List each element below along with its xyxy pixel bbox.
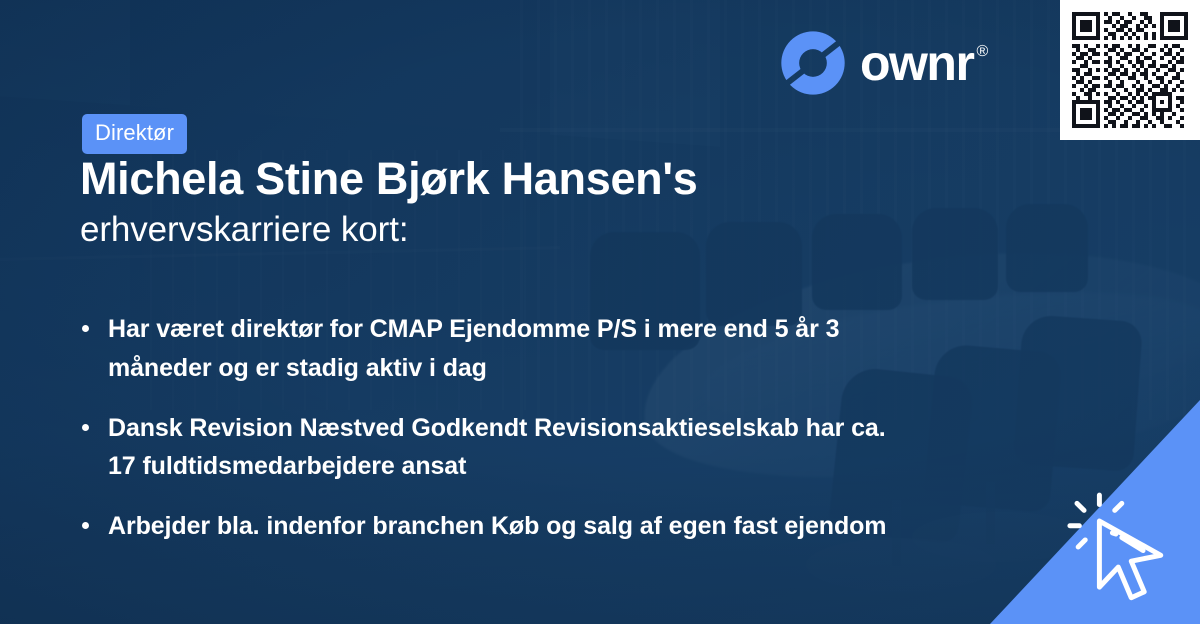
qr-code-icon: [1072, 12, 1188, 128]
ownr-ring-icon: [780, 30, 846, 96]
list-item-text: Arbejder bla. indenfor branchen Køb og s…: [108, 512, 886, 540]
bullet-dot-icon: [82, 325, 89, 332]
list-item: Dansk Revision Næstved Godkendt Revision…: [78, 409, 908, 487]
ownr-wordmark: ownr ®: [860, 38, 988, 88]
title-line-1: Michela Stine Bjørk Hansen's: [80, 152, 960, 205]
corner-decoration: [990, 400, 1200, 624]
list-item: Arbejder bla. indenfor branchen Køb og s…: [78, 507, 908, 546]
page-title: Michela Stine Bjørk Hansen's erhvervskar…: [80, 152, 960, 252]
title-line-2: erhvervskarriere kort:: [80, 208, 960, 252]
card-content: Direktør Michela Stine Bjørk Hansen's er…: [0, 0, 1200, 624]
ownr-logo: ownr ®: [780, 30, 988, 96]
bullet-dot-icon: [82, 522, 89, 529]
bullet-dot-icon: [82, 424, 89, 431]
corner-triangle: [990, 400, 1200, 624]
registered-trademark-icon: ®: [976, 44, 988, 60]
ownr-wordmark-text: ownr: [860, 38, 973, 88]
list-item-text: Har været direktør for CMAP Ejendomme P/…: [108, 315, 839, 382]
list-item: Har været direktør for CMAP Ejendomme P/…: [78, 310, 908, 388]
list-item-text: Dansk Revision Næstved Godkendt Revision…: [108, 414, 886, 481]
ownr-profile-card: Direktør Michela Stine Bjørk Hansen's er…: [0, 0, 1200, 624]
bullet-list: Har været direktør for CMAP Ejendomme P/…: [78, 310, 908, 546]
role-badge: Direktør: [82, 114, 187, 154]
qr-code[interactable]: [1060, 0, 1200, 140]
click-cursor-icon: [1064, 488, 1182, 606]
